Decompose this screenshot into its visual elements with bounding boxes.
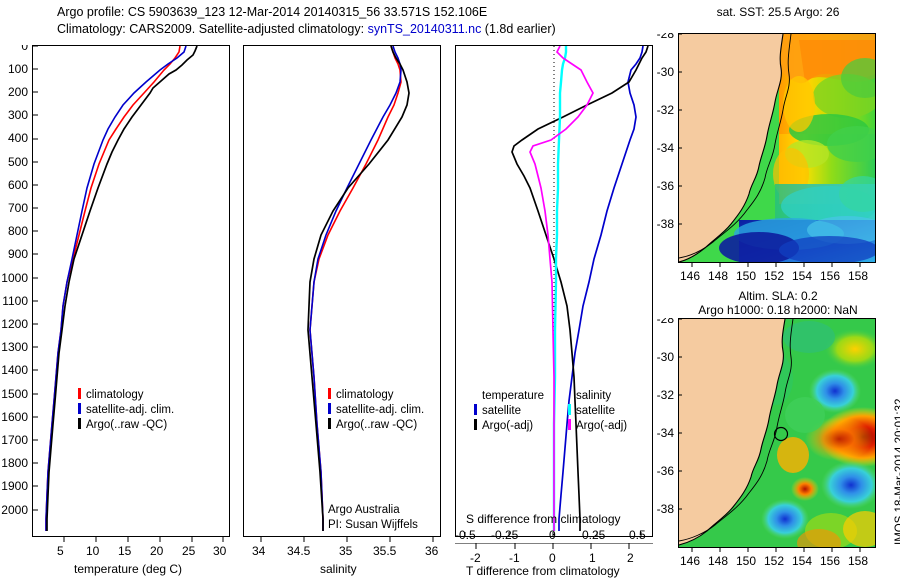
svg-text:2000: 2000 xyxy=(1,503,28,517)
legend-swatch-salinity-satellite xyxy=(568,404,571,415)
title-line2-prefix: Climatology: CARS2009. Satellite-adjuste… xyxy=(57,22,368,36)
salinity-axis-label: salinity xyxy=(320,562,357,576)
sla-xtick-152: 152 xyxy=(764,554,784,568)
salinity-xtick-34: 34 xyxy=(252,544,265,558)
difference-s-xtick--0-5: -0.5 xyxy=(455,528,476,542)
difference-t-xtick--1: -1 xyxy=(509,551,520,565)
curve-temperature-argo-diff xyxy=(512,46,648,531)
svg-text:400: 400 xyxy=(8,131,28,145)
credit-argo-australia: Argo Australia xyxy=(328,504,400,516)
curve-salinity-argo-diff xyxy=(530,46,593,531)
svg-text:600: 600 xyxy=(8,178,28,192)
temperature-xtick-5: 5 xyxy=(57,544,64,558)
salinity-xtick-35: 35 xyxy=(339,544,352,558)
svg-text:200: 200 xyxy=(8,85,28,99)
legend-label-climatology: climatology xyxy=(86,389,144,401)
svg-text:1000: 1000 xyxy=(1,271,28,285)
sla-field xyxy=(679,319,875,547)
sst-map-y-axis: -28-30-32 -34-36-38 xyxy=(646,33,682,268)
imos-timestamp: IMOS 18-Mar-2014 20:01:32 xyxy=(894,399,900,545)
legend-item-climatology-salinity: climatology xyxy=(328,388,424,401)
temperature-y-axis-svg: 0100200 300400500 600700800 90010001100 … xyxy=(0,45,232,540)
title-synts-filename: synTS_20140311.nc xyxy=(368,22,482,36)
sst-y-axis-svg: -28-30-32 -34-36-38 xyxy=(646,33,682,268)
salinity-xtick-35-5: 35.5 xyxy=(373,544,396,558)
sla-map-y-axis: -28-30-32 -34-36-38 xyxy=(646,318,682,553)
sst-xtick-150: 150 xyxy=(736,269,756,283)
svg-text:0: 0 xyxy=(21,45,28,53)
svg-text:1500: 1500 xyxy=(1,387,28,401)
svg-text:-28: -28 xyxy=(657,33,675,41)
difference-profile-panel xyxy=(455,45,653,537)
difference-t-xtick-0: 0 xyxy=(549,551,556,565)
difference-t-axis-label: T difference from climatology xyxy=(466,564,620,578)
svg-text:1800: 1800 xyxy=(1,456,28,470)
svg-text:1700: 1700 xyxy=(1,433,28,447)
sst-map-title: sat. SST: 25.5 Argo: 26 xyxy=(678,5,878,19)
sla-xtick-148: 148 xyxy=(708,554,728,568)
legend-swatch-climatology xyxy=(78,388,81,399)
temperature-xtick-25: 25 xyxy=(182,544,195,558)
curve-climatology-salinity xyxy=(310,46,401,531)
sst-xtick-146: 146 xyxy=(680,269,700,283)
legend-swatch-satellite-adj-salinity xyxy=(328,403,331,414)
salinity-plot-svg xyxy=(244,46,440,536)
svg-text:-32: -32 xyxy=(657,388,675,402)
svg-text:300: 300 xyxy=(8,108,28,122)
sst-field xyxy=(679,34,875,262)
legend-item-climatology: climatology xyxy=(78,388,174,401)
salinity-profile-panel xyxy=(243,45,441,537)
legend-label-argo-raw: Argo(..raw -QC) xyxy=(86,419,167,431)
legend-label-temperature-argo: Argo(-adj) xyxy=(482,420,533,432)
legend-swatch-temperature-argo xyxy=(474,419,477,430)
legend-label-salinity-argo: Argo(-adj) xyxy=(576,420,627,432)
sla-map-title-line2: Argo h1000: 0.18 h2000: NaN xyxy=(668,303,888,317)
temperature-y-axis: 0100200 300400500 600700800 90010001100 … xyxy=(0,45,232,540)
svg-text:-28: -28 xyxy=(657,318,675,326)
temperature-xtick-20: 20 xyxy=(150,544,163,558)
salinity-legend: climatology satellite-adj. clim. Argo(..… xyxy=(328,388,424,431)
temperature-legend: climatology satellite-adj. clim. Argo(..… xyxy=(78,388,174,431)
svg-text:100: 100 xyxy=(8,62,28,76)
sla-xtick-150: 150 xyxy=(736,554,756,568)
legend-item-satellite-adj: satellite-adj. clim. xyxy=(78,403,174,416)
legend-item-argo-raw: Argo(..raw -QC) xyxy=(78,418,174,431)
svg-text:-36: -36 xyxy=(657,464,675,478)
sst-xtick-156: 156 xyxy=(820,269,840,283)
temperature-xtick-10: 10 xyxy=(86,544,99,558)
difference-s-xtick-0-5: 0.5 xyxy=(629,528,646,542)
salinity-curves xyxy=(308,46,409,531)
svg-text:-30: -30 xyxy=(657,350,675,364)
svg-text:1300: 1300 xyxy=(1,340,28,354)
sst-xtick-158: 158 xyxy=(848,269,868,283)
legend-item-argo-raw-salinity: Argo(..raw -QC) xyxy=(328,418,424,431)
difference-plot-svg xyxy=(456,46,652,536)
legend-swatch-argo-raw-salinity xyxy=(328,418,331,429)
salinity-xtick-36: 36 xyxy=(425,544,438,558)
salinity-xtick-34-5: 34.5 xyxy=(287,544,310,558)
sla-map-svg xyxy=(679,319,875,547)
sst-xtick-148: 148 xyxy=(708,269,728,283)
credit-pi: PI: Susan Wijffels xyxy=(328,519,418,531)
curve-temperature-satellite-diff xyxy=(559,46,643,531)
legend-group-title-temperature: temperature xyxy=(482,390,544,402)
legend-item-temperature-satellite: satellite xyxy=(474,404,544,417)
legend-item-temperature-argo: Argo(-adj) xyxy=(474,419,544,432)
temperature-xtick-30: 30 xyxy=(213,544,226,558)
legend-label-argo-raw-salinity: Argo(..raw -QC) xyxy=(336,419,417,431)
svg-text:500: 500 xyxy=(8,155,28,169)
svg-text:1600: 1600 xyxy=(1,410,28,424)
legend-item-salinity-satellite: satellite xyxy=(568,404,627,417)
curve-argo-raw-salinity xyxy=(308,46,409,531)
svg-text:1400: 1400 xyxy=(1,363,28,377)
legend-label-salinity-satellite: satellite xyxy=(576,405,615,417)
svg-text:-36: -36 xyxy=(657,179,675,193)
svg-text:700: 700 xyxy=(8,201,28,215)
svg-text:-30: -30 xyxy=(657,65,675,79)
page-title-line2: Climatology: CARS2009. Satellite-adjuste… xyxy=(57,22,556,36)
difference-t-xtick-2: 2 xyxy=(627,551,634,565)
sst-xtick-154: 154 xyxy=(792,269,812,283)
sst-map-panel xyxy=(678,33,876,263)
sla-map-panel xyxy=(678,318,876,548)
svg-text:-34: -34 xyxy=(657,426,675,440)
legend-swatch-argo-raw xyxy=(78,418,81,429)
legend-label-temperature-satellite: satellite xyxy=(482,405,521,417)
page-title-line1: Argo profile: CS 5903639_123 12-Mar-2014… xyxy=(57,5,487,19)
svg-text:900: 900 xyxy=(8,247,28,261)
difference-s-axis-label: S difference from climatology xyxy=(466,512,621,526)
sla-xtick-154: 154 xyxy=(792,554,812,568)
sla-xtick-156: 156 xyxy=(820,554,840,568)
sla-y-axis-svg: -28-30-32 -34-36-38 xyxy=(646,318,682,553)
sla-map-title-line1: Altim. SLA: 0.2 xyxy=(678,289,878,303)
legend-label-satellite-adj: satellite-adj. clim. xyxy=(86,404,174,416)
svg-text:800: 800 xyxy=(8,224,28,238)
legend-item-salinity-argo: Argo(-adj) xyxy=(568,419,627,432)
title-line1-text: Argo profile: CS 5903639_123 12-Mar-2014… xyxy=(57,5,487,19)
legend-label-climatology-salinity: climatology xyxy=(336,389,394,401)
temperature-axis-label: temperature (deg C) xyxy=(74,562,182,576)
difference-t-xtick-1: 1 xyxy=(589,551,596,565)
difference-s-xtick-0: 0 xyxy=(549,528,556,542)
difference-s-xtick-0-25: 0.25 xyxy=(582,528,605,542)
title-line2-suffix: (1.8d earlier) xyxy=(481,22,555,36)
sla-xtick-146: 146 xyxy=(680,554,700,568)
legend-label-satellite-adj-salinity: satellite-adj. clim. xyxy=(336,404,424,416)
svg-text:-38: -38 xyxy=(657,502,675,516)
svg-text:-38: -38 xyxy=(657,217,675,231)
difference-t-xtick--2: -2 xyxy=(470,551,481,565)
legend-item-satellite-adj-salinity: satellite-adj. clim. xyxy=(328,403,424,416)
legend-swatch-satellite-adj xyxy=(78,403,81,414)
sst-map-svg xyxy=(679,34,875,262)
difference-legend-salinity: salinity satellite Argo(-adj) xyxy=(568,390,627,432)
legend-swatch-salinity-argo xyxy=(568,419,571,430)
svg-text:-34: -34 xyxy=(657,141,675,155)
svg-text:-32: -32 xyxy=(657,103,675,117)
sst-xtick-152: 152 xyxy=(764,269,784,283)
legend-group-title-salinity: salinity xyxy=(576,390,627,402)
sla-xtick-158: 158 xyxy=(848,554,868,568)
difference-curves xyxy=(512,46,648,531)
difference-legend-temperature: temperature satellite Argo(-adj) xyxy=(474,390,544,432)
temperature-xtick-15: 15 xyxy=(118,544,131,558)
svg-text:1200: 1200 xyxy=(1,317,28,331)
legend-swatch-climatology-salinity xyxy=(328,388,331,399)
legend-swatch-temperature-satellite xyxy=(474,404,477,415)
svg-text:1100: 1100 xyxy=(2,294,28,308)
svg-text:1900: 1900 xyxy=(1,479,28,493)
difference-s-xtick--0-25: -0.25 xyxy=(491,528,518,542)
